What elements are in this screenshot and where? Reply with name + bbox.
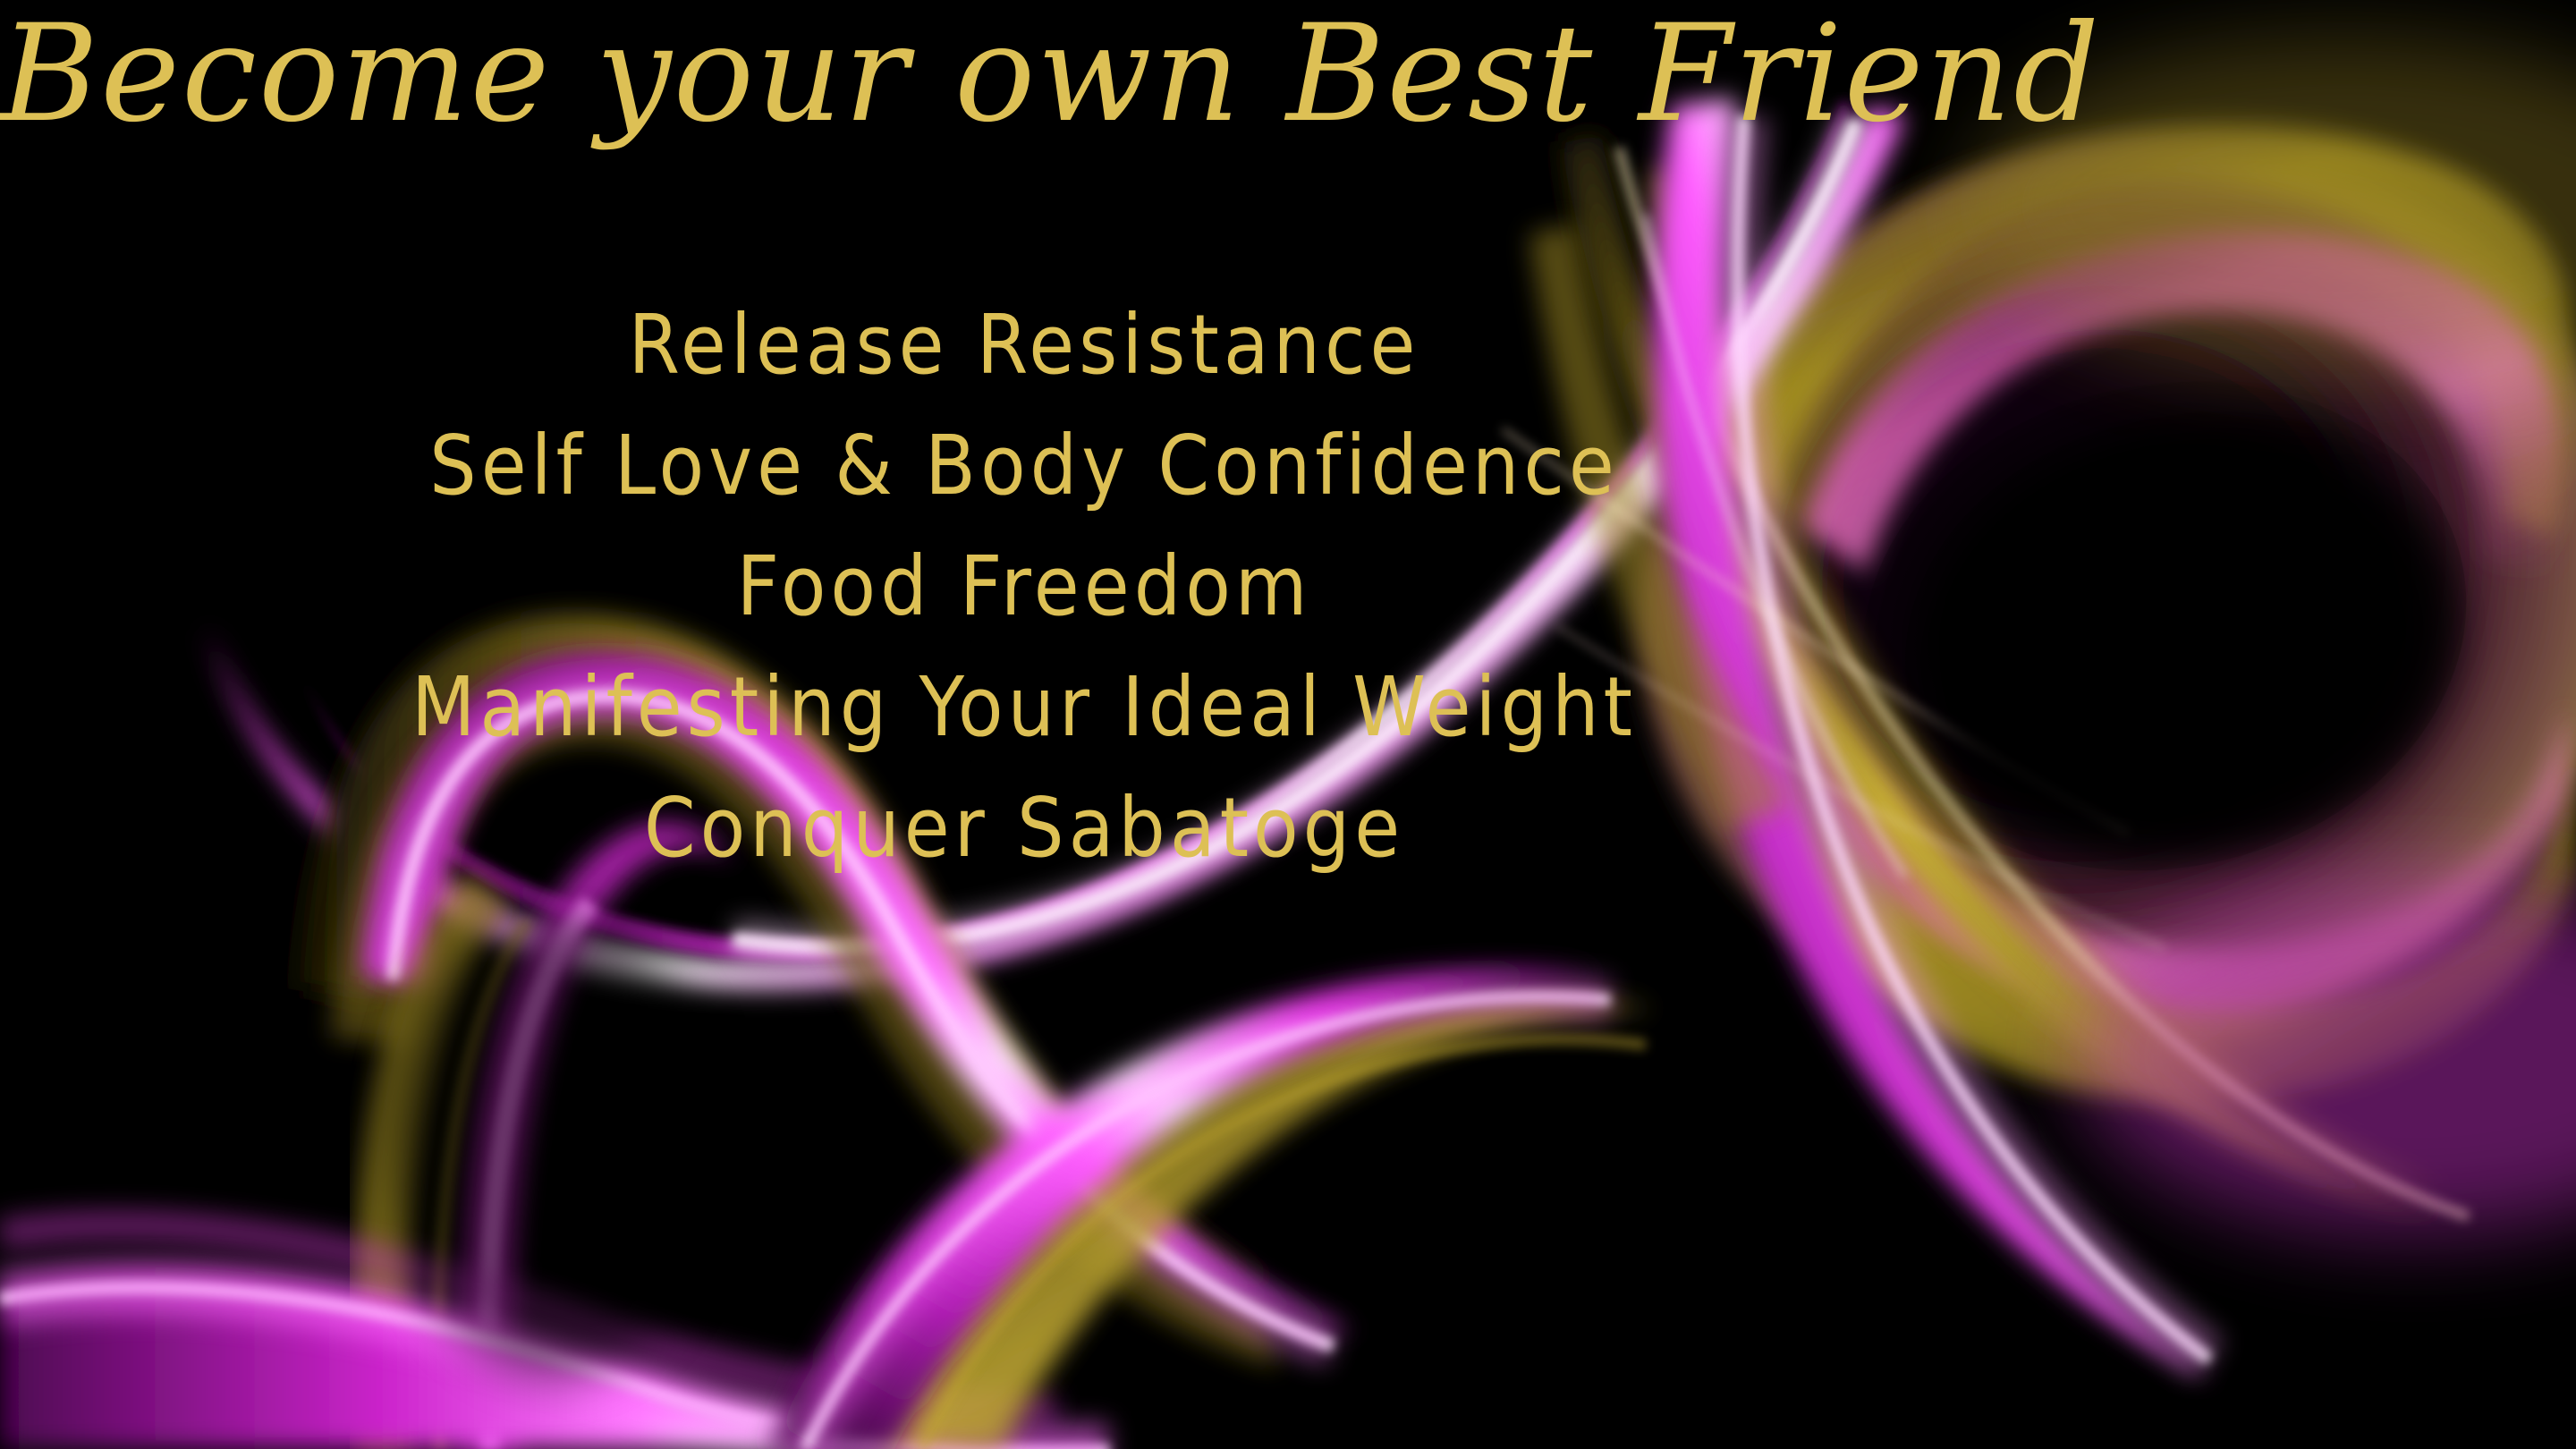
text-layer: Become your own Best Friend Release Resi… <box>0 0 2576 1449</box>
topic-list: Release Resistance Self Love & Body Conf… <box>0 284 2048 888</box>
list-item: Self Love & Body Confidence <box>0 405 2048 526</box>
page-title: Become your own Best Friend <box>0 7 2057 141</box>
banner: Become your own Best Friend Release Resi… <box>0 0 2576 1449</box>
list-item: Release Resistance <box>0 284 2048 405</box>
list-item: Conquer Sabatoge <box>0 767 2048 888</box>
list-item: Food Freedom <box>0 526 2048 647</box>
list-item: Manifesting Your Ideal Weight <box>0 647 2048 767</box>
